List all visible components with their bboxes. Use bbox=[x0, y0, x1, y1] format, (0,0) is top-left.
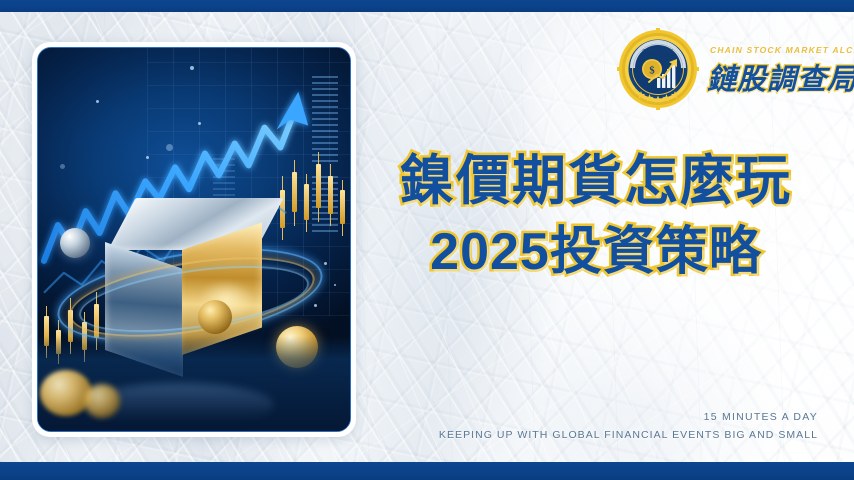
particle bbox=[146, 156, 149, 159]
main-title: 鎳價期貨怎麼玩 2025投資策略 bbox=[386, 150, 806, 283]
bottom-accent-bar bbox=[0, 462, 854, 480]
particle bbox=[198, 122, 201, 125]
brand-chinese-name: 鏈股調查局 bbox=[707, 56, 854, 98]
tagline: 15 MINUTES A DAY KEEPING UP WITH GLOBAL … bbox=[439, 409, 818, 444]
title-line-1: 鎳價期貨怎麼玩 bbox=[386, 150, 806, 214]
tagline-line-2: KEEPING UP WITH GLOBAL FINANCIAL EVENTS … bbox=[439, 427, 818, 444]
title-line-2: 2025投資策略 bbox=[386, 222, 806, 283]
particle bbox=[314, 304, 317, 307]
brand-wordmark: CHAIN STOCK MARKET ALCHEMY 鏈股調查局 bbox=[707, 41, 854, 98]
brand-logo[interactable]: CHAIN STOCK $ bbox=[617, 27, 832, 111]
top-accent-bar bbox=[0, 0, 854, 12]
thumbnail-canvas: CHAIN STOCK $ bbox=[0, 0, 854, 480]
brand-english-name: CHAIN STOCK MARKET ALCHEMY bbox=[707, 45, 854, 55]
thumbnail-image-card bbox=[32, 42, 356, 437]
particle bbox=[190, 66, 194, 70]
particle bbox=[324, 262, 327, 265]
particle bbox=[60, 164, 65, 169]
svg-text:$: $ bbox=[649, 66, 654, 77]
particle bbox=[334, 284, 336, 286]
svg-text:CHAIN STOCK: CHAIN STOCK bbox=[642, 48, 673, 53]
particle bbox=[166, 144, 173, 151]
nickel-cube-scene bbox=[38, 48, 350, 431]
chain-stock-market-alchemy-seal-icon: CHAIN STOCK $ bbox=[617, 28, 699, 110]
brand-seal-icon: CHAIN STOCK $ bbox=[617, 28, 699, 110]
thumbnail-image-frame bbox=[37, 47, 351, 432]
particle bbox=[96, 100, 99, 103]
scene-particles bbox=[38, 48, 350, 431]
tagline-line-1: 15 MINUTES A DAY bbox=[439, 409, 818, 426]
